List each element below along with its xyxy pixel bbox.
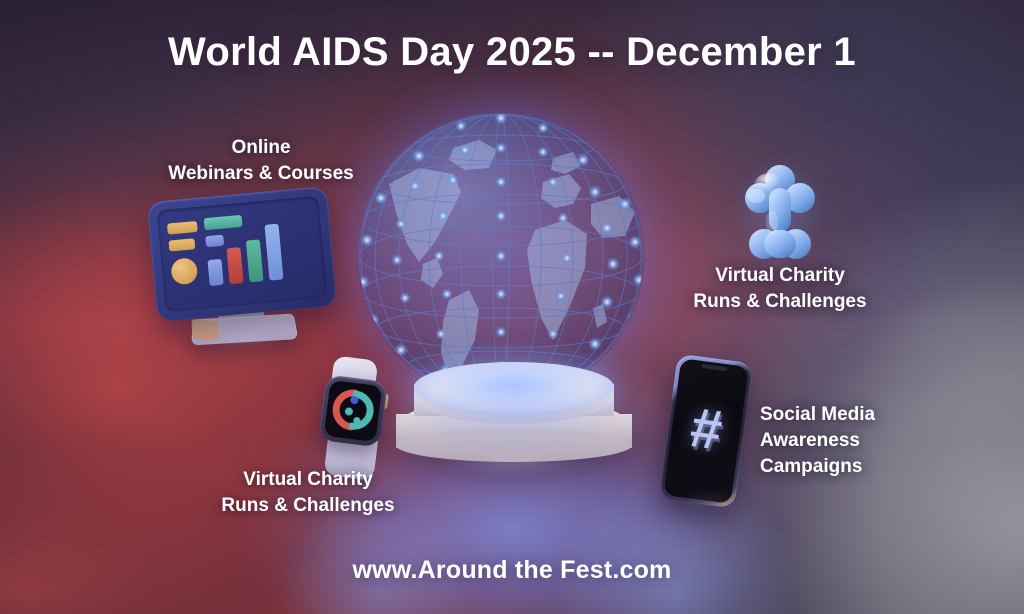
fitness-smartwatch-icon <box>306 360 402 476</box>
phone-notch <box>701 364 727 371</box>
dashboard-widget-bar-orange-2 <box>168 238 195 251</box>
label-social-line-1: Social Media <box>760 402 900 428</box>
activity-rings-svg <box>324 380 382 442</box>
podium-lower-base <box>396 428 632 462</box>
monitor-stand-edge-highlight <box>191 319 218 342</box>
label-charity-right-line-2: Runs & Challenges <box>680 289 880 315</box>
awareness-ribbon-icon <box>738 160 822 264</box>
podium-floor-reflection <box>406 458 622 504</box>
label-online-webinars: Online Webinars & Courses <box>161 135 361 187</box>
dashboard-widget-pie-circle <box>170 257 198 285</box>
globe-wireframe-svg <box>357 112 645 400</box>
dashboard-widget-bar-teal <box>204 215 243 230</box>
label-virtual-charity-right: Virtual Charity Runs & Challenges <box>680 263 880 315</box>
social-media-smartphone-icon: # <box>668 358 760 510</box>
label-charity-left-line-1: Virtual Charity <box>213 467 403 493</box>
ribbon-figure-svg <box>738 160 822 264</box>
dashboard-chart-column-3 <box>246 239 264 282</box>
dashboard-chart-column-4 <box>264 224 283 281</box>
label-online-line-1: Online <box>161 135 361 161</box>
phone-floor-reflection <box>666 498 752 522</box>
hashtag-icon: # <box>687 399 725 459</box>
phone-screen: # <box>663 358 748 504</box>
activity-dot-teal <box>344 407 353 416</box>
monitor-screen <box>157 196 328 312</box>
display-podium <box>396 362 632 472</box>
label-social-media: Social Media Awareness Campaigns <box>760 402 900 481</box>
label-charity-left-line-2: Runs & Challenges <box>213 493 403 519</box>
label-charity-right-line-1: Virtual Charity <box>680 263 880 289</box>
network-globe <box>357 112 645 400</box>
watch-face <box>324 380 382 442</box>
activity-ring-red <box>334 391 355 427</box>
dashboard-widget-bar-blue <box>205 235 224 248</box>
dashboard-widget-bar-orange-1 <box>167 221 198 235</box>
poster-canvas: World AIDS Day 2025 -- December 1 <box>0 0 1024 614</box>
dashboard-chart-column-2 <box>226 247 243 284</box>
phone-frame: # <box>659 354 753 509</box>
label-virtual-charity-left: Virtual Charity Runs & Challenges <box>213 467 403 519</box>
monitor-floor-reflection <box>184 338 306 358</box>
label-online-line-2: Webinars & Courses <box>161 161 361 187</box>
dashboard-monitor-icon <box>148 192 344 352</box>
podium-upper-top-glow <box>414 362 614 412</box>
label-social-line-2: Awareness <box>760 428 900 454</box>
globe-sphere <box>357 112 645 400</box>
dashboard-chart-column-1 <box>207 259 223 286</box>
label-social-line-3: Campaigns <box>760 454 900 480</box>
website-footer: www.Around the Fest.com <box>0 556 1024 585</box>
watch-case <box>318 374 388 447</box>
monitor-bezel <box>147 186 337 322</box>
